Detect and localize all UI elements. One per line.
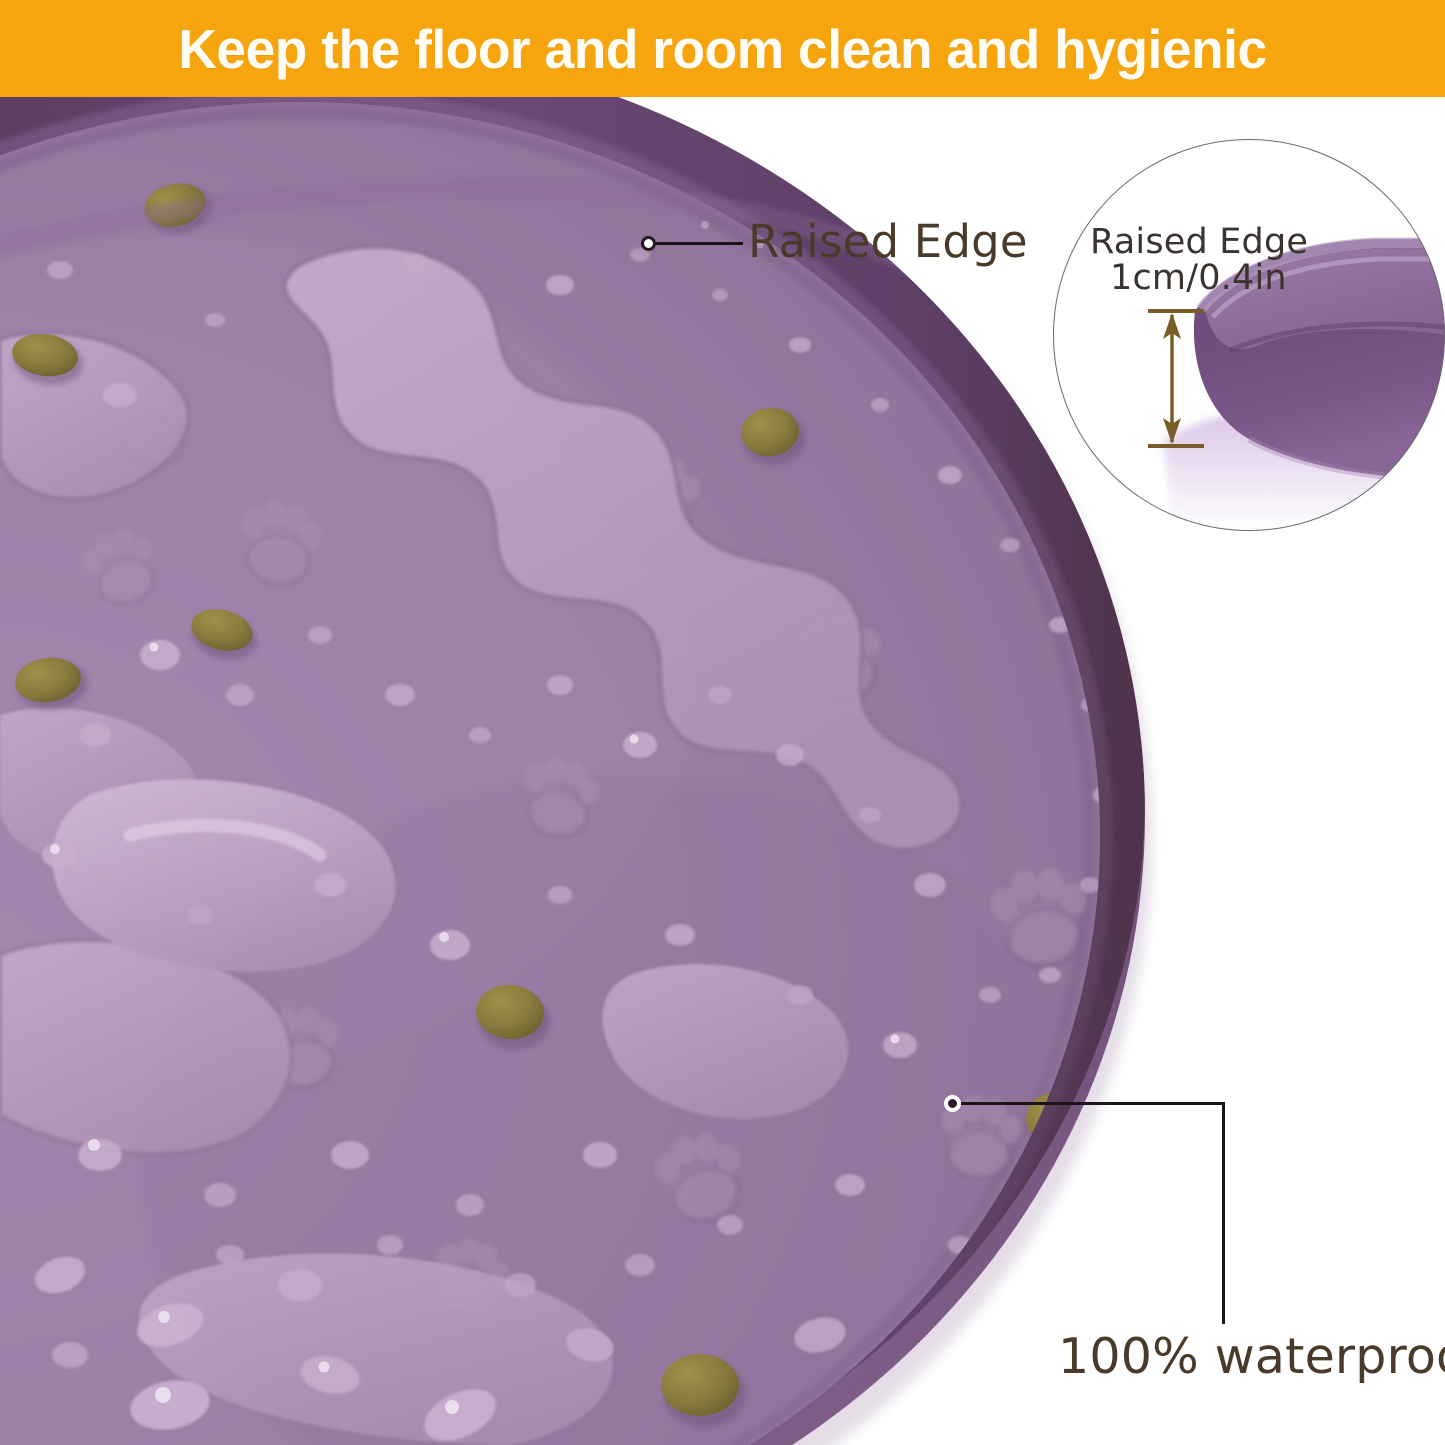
inset-label-line2: 1cm/0.4in (1110, 258, 1287, 298)
raised-edge-leader-line (655, 242, 743, 245)
waterproof-marker-dot (944, 1095, 961, 1112)
inset-illustration (1053, 139, 1445, 531)
product-marketing-image: Keep the floor and room clean and hygien… (0, 0, 1445, 1445)
waterproof-leader-horizontal (960, 1102, 1225, 1105)
raised-edge-label: Raised Edge (748, 215, 1028, 268)
banner-headline: Keep the floor and room clean and hygien… (22, 0, 1424, 97)
waterproof-label: 100% waterproof (1058, 1328, 1445, 1385)
waterproof-leader-vertical (1222, 1102, 1225, 1324)
raised-edge-detail-inset (1053, 139, 1445, 531)
header-banner: Keep the floor and room clean and hygien… (0, 0, 1445, 97)
inset-label-line1: Raised Edge (1090, 222, 1308, 262)
raised-edge-marker-dot (641, 236, 656, 251)
